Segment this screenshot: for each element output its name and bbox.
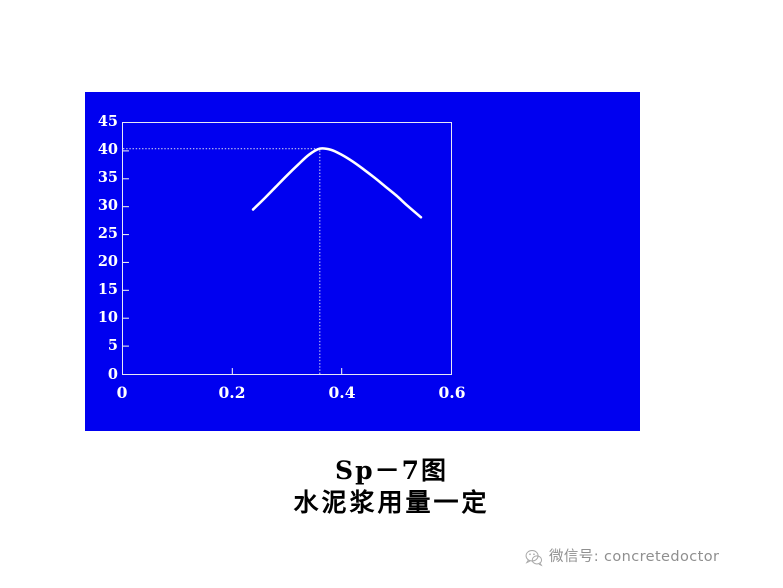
x-tick-label: 0.2 xyxy=(219,385,246,401)
x-tick-marks xyxy=(232,368,341,374)
data-series-curve xyxy=(253,148,421,217)
x-tick-label: 0.4 xyxy=(329,385,356,401)
slide-canvas: 051015202530354045 00.20.40.6 Sp－7图 水泥浆用… xyxy=(0,0,783,588)
caption-line-1: Sp－7图 xyxy=(0,456,783,486)
y-tick-marks xyxy=(123,151,129,346)
watermark-text: 微信号: concretedoctor xyxy=(549,548,719,567)
wechat-logo-icon xyxy=(524,548,543,567)
x-tick-label: 0.6 xyxy=(439,385,466,401)
figure-caption: Sp－7图 水泥浆用量一定 xyxy=(0,456,783,520)
plot-area xyxy=(123,123,451,374)
x-tick-label: 0 xyxy=(117,385,128,401)
chart-panel: 051015202530354045 00.20.40.6 xyxy=(85,92,640,431)
wechat-watermark: 微信号: concretedoctor xyxy=(524,543,719,571)
plot-frame xyxy=(122,122,452,375)
caption-line-2: 水泥浆用量一定 xyxy=(0,486,783,520)
